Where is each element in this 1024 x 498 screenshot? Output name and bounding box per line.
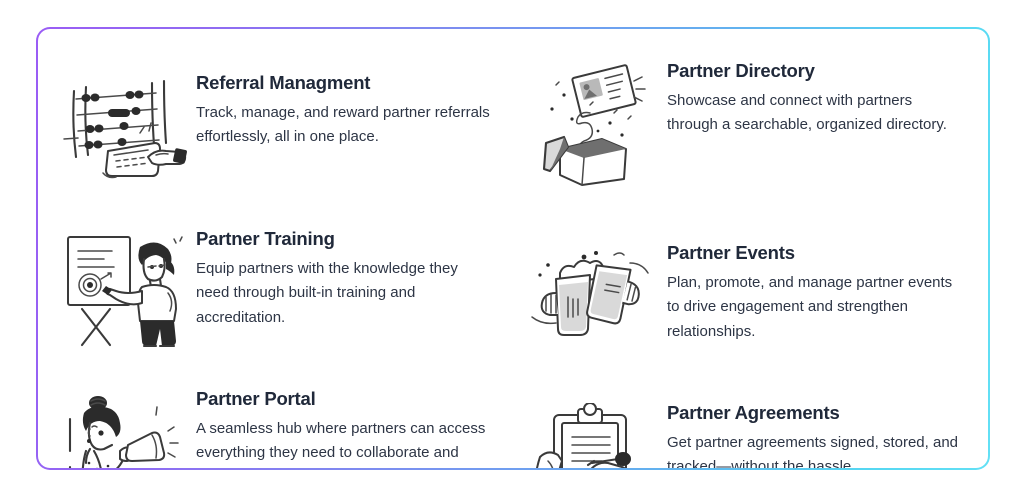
feature-card: Referral Managment Track, manage, and re…	[36, 27, 990, 470]
feature-copy: Partner Events Plan, promote, and manage…	[667, 239, 988, 344]
feature-item-partner-events[interactable]: Partner Events Plan, promote, and manage…	[517, 239, 988, 347]
feature-title: Partner Directory	[667, 59, 962, 82]
feature-copy: Partner Portal A seamless hub where part…	[196, 385, 513, 468]
feature-title: Partner Training	[196, 227, 491, 250]
feature-title: Partner Agreements	[667, 401, 962, 424]
feature-item-referral-managment[interactable]: Referral Managment Track, manage, and re…	[52, 69, 513, 185]
feature-copy: Partner Training Equip partners with the…	[196, 225, 513, 330]
feature-item-partner-training[interactable]: Partner Training Equip partners with the…	[52, 225, 513, 349]
feature-copy: Partner Directory Showcase and connect w…	[667, 57, 988, 138]
feature-description: Plan, promote, and manage partner events…	[667, 271, 962, 344]
presenter-whiteboard-icon	[52, 225, 192, 349]
feature-description: A seamless hub where partners can access…	[196, 417, 491, 468]
feature-description: Track, manage, and reward partner referr…	[196, 101, 491, 150]
clipboard-signing-hands-icon	[517, 399, 663, 468]
feature-copy: Partner Agreements Get partner agreement…	[667, 399, 988, 468]
feature-copy: Referral Managment Track, manage, and re…	[196, 69, 513, 150]
feature-title: Partner Portal	[196, 387, 491, 410]
feature-title: Partner Events	[667, 241, 962, 264]
feature-card-inner: Referral Managment Track, manage, and re…	[38, 29, 988, 468]
person-megaphone-icon	[52, 385, 192, 468]
feature-description: Showcase and connect with partners throu…	[667, 89, 962, 138]
feature-description: Equip partners with the knowledge they n…	[196, 257, 491, 330]
feature-item-partner-agreements[interactable]: Partner Agreements Get partner agreement…	[517, 399, 988, 468]
feature-column-right: Partner Directory Showcase and connect w…	[513, 29, 988, 468]
jack-in-the-box-profile-card-icon	[517, 57, 663, 187]
feature-title: Referral Managment	[196, 71, 491, 94]
feature-description: Get partner agreements signed, stored, a…	[667, 431, 962, 468]
abacus-calculator-icon	[52, 69, 192, 185]
feature-item-partner-directory[interactable]: Partner Directory Showcase and connect w…	[517, 57, 988, 187]
feature-item-partner-portal[interactable]: Partner Portal A seamless hub where part…	[52, 385, 513, 468]
feature-column-left: Referral Managment Track, manage, and re…	[38, 29, 513, 468]
beer-mugs-cheers-icon	[517, 239, 663, 347]
